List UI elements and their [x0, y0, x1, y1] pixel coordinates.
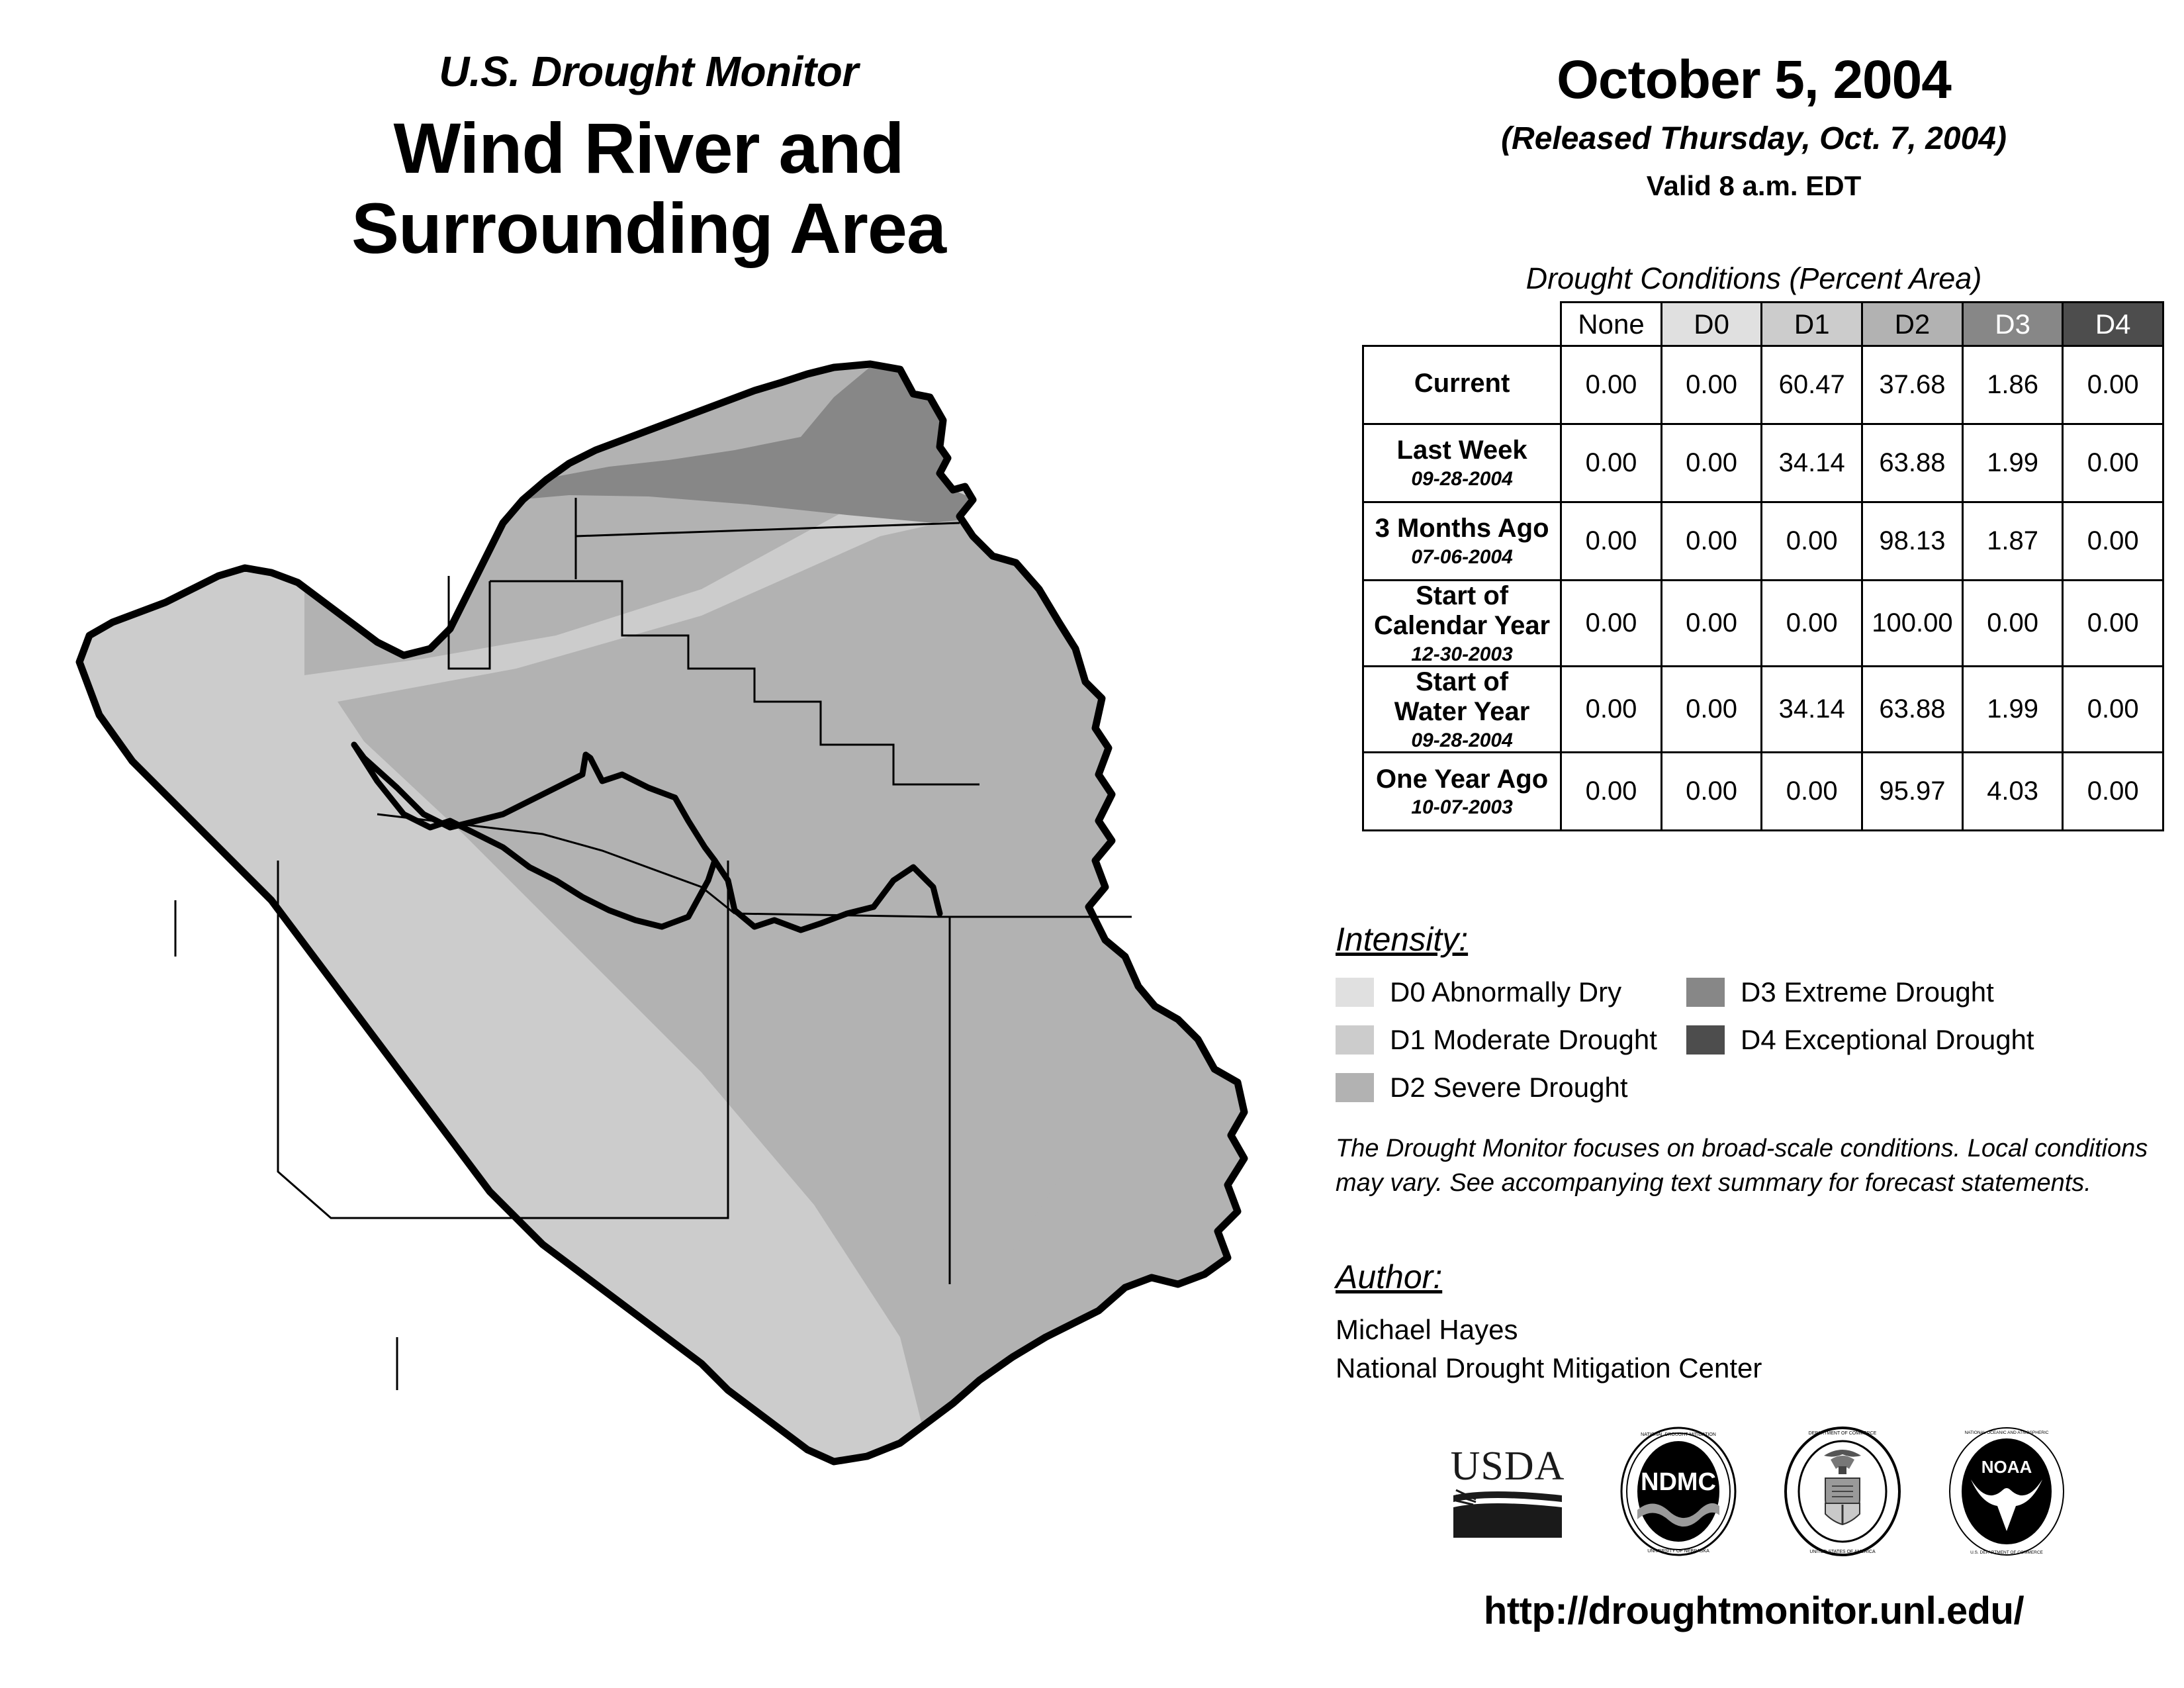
table-row: Start ofWater Year 09-28-2004 0.00 0.00 …	[1363, 667, 2163, 753]
column-header-d0: D0	[1661, 303, 1762, 346]
cell-d3: 1.99	[1962, 667, 2063, 753]
department-of-commerce-seal: DEPARTMENT OF COMMERCE UNITED STATES OF …	[1783, 1425, 1902, 1561]
cell-d1: 34.14	[1762, 667, 1862, 753]
legend-label-d2: D2 Severe Drought	[1375, 1072, 1686, 1103]
svg-text:UNIVERSITY OF NEBRASKA: UNIVERSITY OF NEBRASKA	[1647, 1549, 1709, 1554]
row-label-3-months-ago: 3 Months Ago 07-06-2004	[1363, 502, 1561, 581]
legend-label-d3: D3 Extreme Drought	[1726, 976, 2150, 1008]
cell-d3: 1.87	[1962, 502, 2063, 581]
ndmc-logo: NDMC NATIONAL DROUGHT MITIGATION UNIVERS…	[1619, 1425, 1738, 1561]
row-date: 09-28-2004	[1364, 468, 1560, 491]
column-header-d3: D3	[1962, 303, 2063, 346]
svg-text:USDA: USDA	[1451, 1444, 1565, 1489]
svg-text:U.S. DEPARTMENT OF COMMERCE: U.S. DEPARTMENT OF COMMERCE	[1970, 1550, 2043, 1555]
valid-time: Valid 8 a.m. EDT	[1324, 170, 2184, 202]
cell-d3: 4.03	[1962, 753, 2063, 831]
row-label-start-calendar-year: Start ofCalendar Year 12-30-2003	[1363, 581, 1561, 667]
row-name: One Year Ago	[1364, 765, 1560, 794]
table-row: 3 Months Ago 07-06-2004 0.00 0.00 0.00 9…	[1363, 502, 2163, 581]
cell-d2: 98.13	[1862, 502, 1963, 581]
table-row: Start ofCalendar Year 12-30-2003 0.00 0.…	[1363, 581, 2163, 667]
cell-d1: 0.00	[1762, 581, 1862, 667]
cell-d0: 0.00	[1661, 667, 1762, 753]
row-label-current: Current	[1363, 346, 1561, 424]
column-header-d1: D1	[1762, 303, 1862, 346]
author-block: Author: Michael Hayes National Drought M…	[1336, 1258, 2169, 1387]
cell-d4: 0.00	[2063, 581, 2163, 667]
cell-d2: 63.88	[1862, 424, 1963, 502]
cell-d0: 0.00	[1661, 753, 1762, 831]
cell-d4: 0.00	[2063, 346, 2163, 424]
date-block: October 5, 2004 (Released Thursday, Oct.…	[1324, 53, 2184, 202]
table-corner-cell	[1363, 303, 1561, 346]
svg-text:NDMC: NDMC	[1641, 1468, 1716, 1496]
drought-map-svg[interactable]	[53, 357, 1310, 1470]
valid-date: October 5, 2004	[1324, 53, 2184, 107]
cell-d2: 63.88	[1862, 667, 1963, 753]
row-name: Start ofWater Year	[1364, 667, 1560, 727]
cell-none: 0.00	[1561, 667, 1662, 753]
cell-d3: 0.00	[1962, 581, 2063, 667]
cell-d1: 34.14	[1762, 424, 1862, 502]
row-name: Current	[1364, 369, 1560, 399]
cell-d0: 0.00	[1661, 581, 1762, 667]
row-date: 09-28-2004	[1364, 729, 1560, 752]
legend-swatch-d3	[1686, 978, 1725, 1007]
row-label-last-week: Last Week 09-28-2004	[1363, 424, 1561, 502]
legend-label-d0: D0 Abnormally Dry	[1375, 976, 1686, 1008]
author-affiliation: National Drought Mitigation Center	[1336, 1349, 2169, 1387]
svg-text:DEPARTMENT OF COMMERCE: DEPARTMENT OF COMMERCE	[1809, 1431, 1877, 1436]
website-url[interactable]: http://droughtmonitor.unl.edu/	[1324, 1589, 2184, 1633]
row-date: 12-30-2003	[1364, 643, 1560, 666]
legend-label-d4: D4 Exceptional Drought	[1726, 1024, 2150, 1056]
intensity-legend: Intensity: D0 Abnormally Dry D3 Extreme …	[1336, 920, 2184, 1104]
legend-label-d1: D1 Moderate Drought	[1375, 1024, 1686, 1056]
cell-d3: 1.99	[1962, 424, 2063, 502]
info-panel: October 5, 2004 (Released Thursday, Oct.…	[1324, 0, 2184, 1688]
agency-logos: USDA NDMC NATIONAL DROUGHT MITIGATION UN…	[1324, 1417, 2184, 1569]
row-date: 07-06-2004	[1364, 546, 1560, 569]
row-name: Start ofCalendar Year	[1364, 581, 1560, 641]
svg-text:UNITED STATES OF AMERICA: UNITED STATES OF AMERICA	[1809, 1550, 1876, 1554]
cell-d4: 0.00	[2063, 424, 2163, 502]
cell-d1: 0.00	[1762, 502, 1862, 581]
row-label-start-water-year: Start ofWater Year 09-28-2004	[1363, 667, 1561, 753]
svg-text:NATIONAL OCEANIC AND ATMOSPHER: NATIONAL OCEANIC AND ATMOSPHERIC	[1964, 1430, 2048, 1435]
row-date: 10-07-2003	[1364, 796, 1560, 819]
row-name: Last Week	[1364, 436, 1560, 465]
author-heading: Author:	[1336, 1258, 1442, 1296]
cell-d4: 0.00	[2063, 667, 2163, 753]
usda-logo: USDA	[1441, 1438, 1574, 1548]
cell-d2: 100.00	[1862, 581, 1963, 667]
legend-swatch-d2	[1336, 1073, 1374, 1102]
svg-text:NATIONAL DROUGHT MITIGATION: NATIONAL DROUGHT MITIGATION	[1641, 1432, 1716, 1437]
drought-conditions-table: None D0 D1 D2 D3 D4 Current 0.00 0.00 60…	[1362, 301, 2164, 831]
cell-d2: 95.97	[1862, 753, 1963, 831]
table-caption: Drought Conditions (Percent Area)	[1324, 261, 2184, 296]
cell-none: 0.00	[1561, 753, 1662, 831]
cell-d2: 37.68	[1862, 346, 1963, 424]
table-row: Current 0.00 0.00 60.47 37.68 1.86 0.00	[1363, 346, 2163, 424]
cell-d0: 0.00	[1661, 502, 1762, 581]
cell-d1: 60.47	[1762, 346, 1862, 424]
program-title: U.S. Drought Monitor	[0, 50, 1297, 94]
svg-text:NOAA: NOAA	[1981, 1457, 2032, 1477]
cell-d0: 0.00	[1661, 424, 1762, 502]
column-header-none: None	[1561, 303, 1662, 346]
cell-none: 0.00	[1561, 346, 1662, 424]
intensity-heading: Intensity:	[1336, 920, 1468, 959]
drought-map[interactable]	[53, 357, 1310, 1470]
page-title-line1: Wind River and	[0, 109, 1297, 189]
cell-none: 0.00	[1561, 581, 1662, 667]
map-panel: U.S. Drought Monitor Wind River and Surr…	[0, 0, 1324, 1688]
cell-d0: 0.00	[1661, 346, 1762, 424]
disclaimer-text: The Drought Monitor focuses on broad-sca…	[1336, 1132, 2169, 1200]
cell-d1: 0.00	[1762, 753, 1862, 831]
author-name: Michael Hayes	[1336, 1311, 2169, 1349]
released-date: (Released Thursday, Oct. 7, 2004)	[1324, 120, 2184, 157]
column-header-d2: D2	[1862, 303, 1963, 346]
cell-d4: 0.00	[2063, 753, 2163, 831]
row-label-one-year-ago: One Year Ago 10-07-2003	[1363, 753, 1561, 831]
noaa-logo: NOAA NATIONAL OCEANIC AND ATMOSPHERIC U.…	[1947, 1425, 2066, 1561]
cell-none: 0.00	[1561, 502, 1662, 581]
title-block: U.S. Drought Monitor Wind River and Surr…	[0, 50, 1297, 269]
table-row: Last Week 09-28-2004 0.00 0.00 34.14 63.…	[1363, 424, 2163, 502]
page-title-line2: Surrounding Area	[0, 189, 1297, 269]
row-name: 3 Months Ago	[1364, 514, 1560, 543]
table-row: One Year Ago 10-07-2003 0.00 0.00 0.00 9…	[1363, 753, 2163, 831]
cell-d3: 1.86	[1962, 346, 2063, 424]
legend-swatch-d4	[1686, 1025, 1725, 1055]
legend-swatch-d1	[1336, 1025, 1374, 1055]
cell-none: 0.00	[1561, 424, 1662, 502]
table-header-row: None D0 D1 D2 D3 D4	[1363, 303, 2163, 346]
column-header-d4: D4	[2063, 303, 2163, 346]
page-title: Wind River and Surrounding Area	[0, 109, 1297, 269]
cell-d4: 0.00	[2063, 502, 2163, 581]
legend-swatch-d0	[1336, 978, 1374, 1007]
